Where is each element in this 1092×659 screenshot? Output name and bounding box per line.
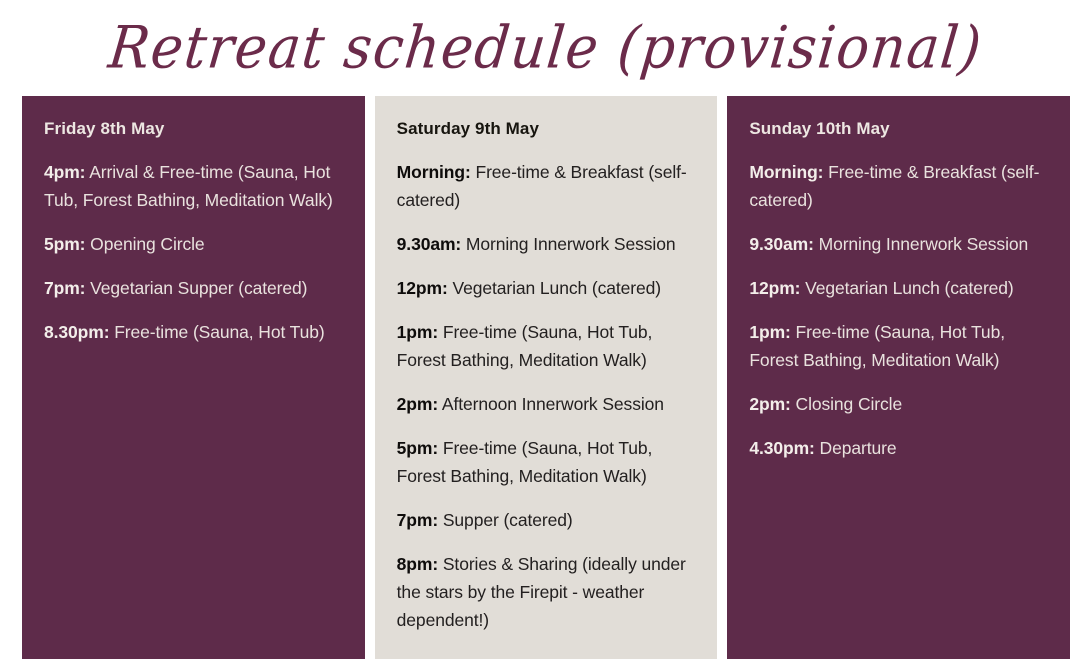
schedule-entry: 7pm: Supper (catered)	[397, 506, 696, 534]
schedule-entry: 9.30am: Morning Innerwork Session	[749, 230, 1048, 258]
schedule-entry: 12pm: Vegetarian Lunch (catered)	[397, 274, 696, 302]
day-heading: Friday 8th May	[44, 118, 343, 140]
schedule-entry: 2pm: Afternoon Innerwork Session	[397, 390, 696, 418]
entry-description: Vegetarian Lunch (catered)	[448, 278, 661, 298]
entry-time: 1pm:	[397, 322, 438, 342]
entry-time: 4.30pm:	[749, 438, 814, 458]
entry-time: 8.30pm:	[44, 322, 109, 342]
entry-time: 4pm:	[44, 162, 85, 182]
entry-time: Morning:	[397, 162, 471, 182]
day-column: Saturday 9th MayMorning: Free-time & Bre…	[375, 96, 718, 659]
entry-description: Departure	[815, 438, 897, 458]
entry-description: Stories & Sharing (ideally under the sta…	[397, 554, 686, 630]
entry-description: Afternoon Innerwork Session	[438, 394, 664, 414]
schedule-entry: 1pm: Free-time (Sauna, Hot Tub, Forest B…	[749, 318, 1048, 374]
schedule-entry: 5pm: Opening Circle	[44, 230, 343, 258]
schedule-entry: 8.30pm: Free-time (Sauna, Hot Tub)	[44, 318, 343, 346]
entry-time: 9.30am:	[749, 234, 813, 254]
entry-description: Closing Circle	[791, 394, 902, 414]
entry-time: 2pm:	[397, 394, 438, 414]
entry-time: 5pm:	[44, 234, 85, 254]
schedule-entry: 8pm: Stories & Sharing (ideally under th…	[397, 550, 696, 634]
schedule-entry: 4pm: Arrival & Free-time (Sauna, Hot Tub…	[44, 158, 343, 214]
entry-description: Vegetarian Supper (catered)	[85, 278, 307, 298]
schedule-entry: 4.30pm: Departure	[749, 434, 1048, 462]
schedule-entry: Morning: Free-time & Breakfast (self-cat…	[749, 158, 1048, 214]
entry-time: 12pm:	[397, 278, 448, 298]
entry-description: Arrival & Free-time (Sauna, Hot Tub, For…	[44, 162, 333, 210]
entry-description: Morning Innerwork Session	[461, 234, 675, 254]
entry-time: 7pm:	[44, 278, 85, 298]
page-title: Retreat schedule (provisional)	[106, 19, 985, 77]
entry-time: 7pm:	[397, 510, 438, 530]
schedule-entry: 12pm: Vegetarian Lunch (catered)	[749, 274, 1048, 302]
day-heading: Saturday 9th May	[397, 118, 696, 140]
entry-time: 12pm:	[749, 278, 800, 298]
schedule-entry: 1pm: Free-time (Sauna, Hot Tub, Forest B…	[397, 318, 696, 374]
schedule-entry: 5pm: Free-time (Sauna, Hot Tub, Forest B…	[397, 434, 696, 490]
entry-description: Morning Innerwork Session	[814, 234, 1028, 254]
entry-description: Supper (catered)	[438, 510, 572, 530]
entry-description: Vegetarian Lunch (catered)	[800, 278, 1013, 298]
entry-time: Morning:	[749, 162, 823, 182]
schedule-entry: 9.30am: Morning Innerwork Session	[397, 230, 696, 258]
entry-time: 2pm:	[749, 394, 790, 414]
day-column: Friday 8th May4pm: Arrival & Free-time (…	[22, 96, 365, 659]
title-bar: Retreat schedule (provisional)	[0, 0, 1092, 96]
schedule-entry: 7pm: Vegetarian Supper (catered)	[44, 274, 343, 302]
day-heading: Sunday 10th May	[749, 118, 1048, 140]
schedule-entry: 2pm: Closing Circle	[749, 390, 1048, 418]
entry-time: 8pm:	[397, 554, 438, 574]
entry-description: Free-time (Sauna, Hot Tub)	[109, 322, 324, 342]
entry-time: 1pm:	[749, 322, 790, 342]
schedule-entry: Morning: Free-time & Breakfast (self-cat…	[397, 158, 696, 214]
entry-time: 9.30am:	[397, 234, 461, 254]
entry-time: 5pm:	[397, 438, 438, 458]
schedule-columns: Friday 8th May4pm: Arrival & Free-time (…	[0, 96, 1092, 659]
day-column: Sunday 10th MayMorning: Free-time & Brea…	[727, 96, 1070, 659]
entry-description: Opening Circle	[85, 234, 204, 254]
